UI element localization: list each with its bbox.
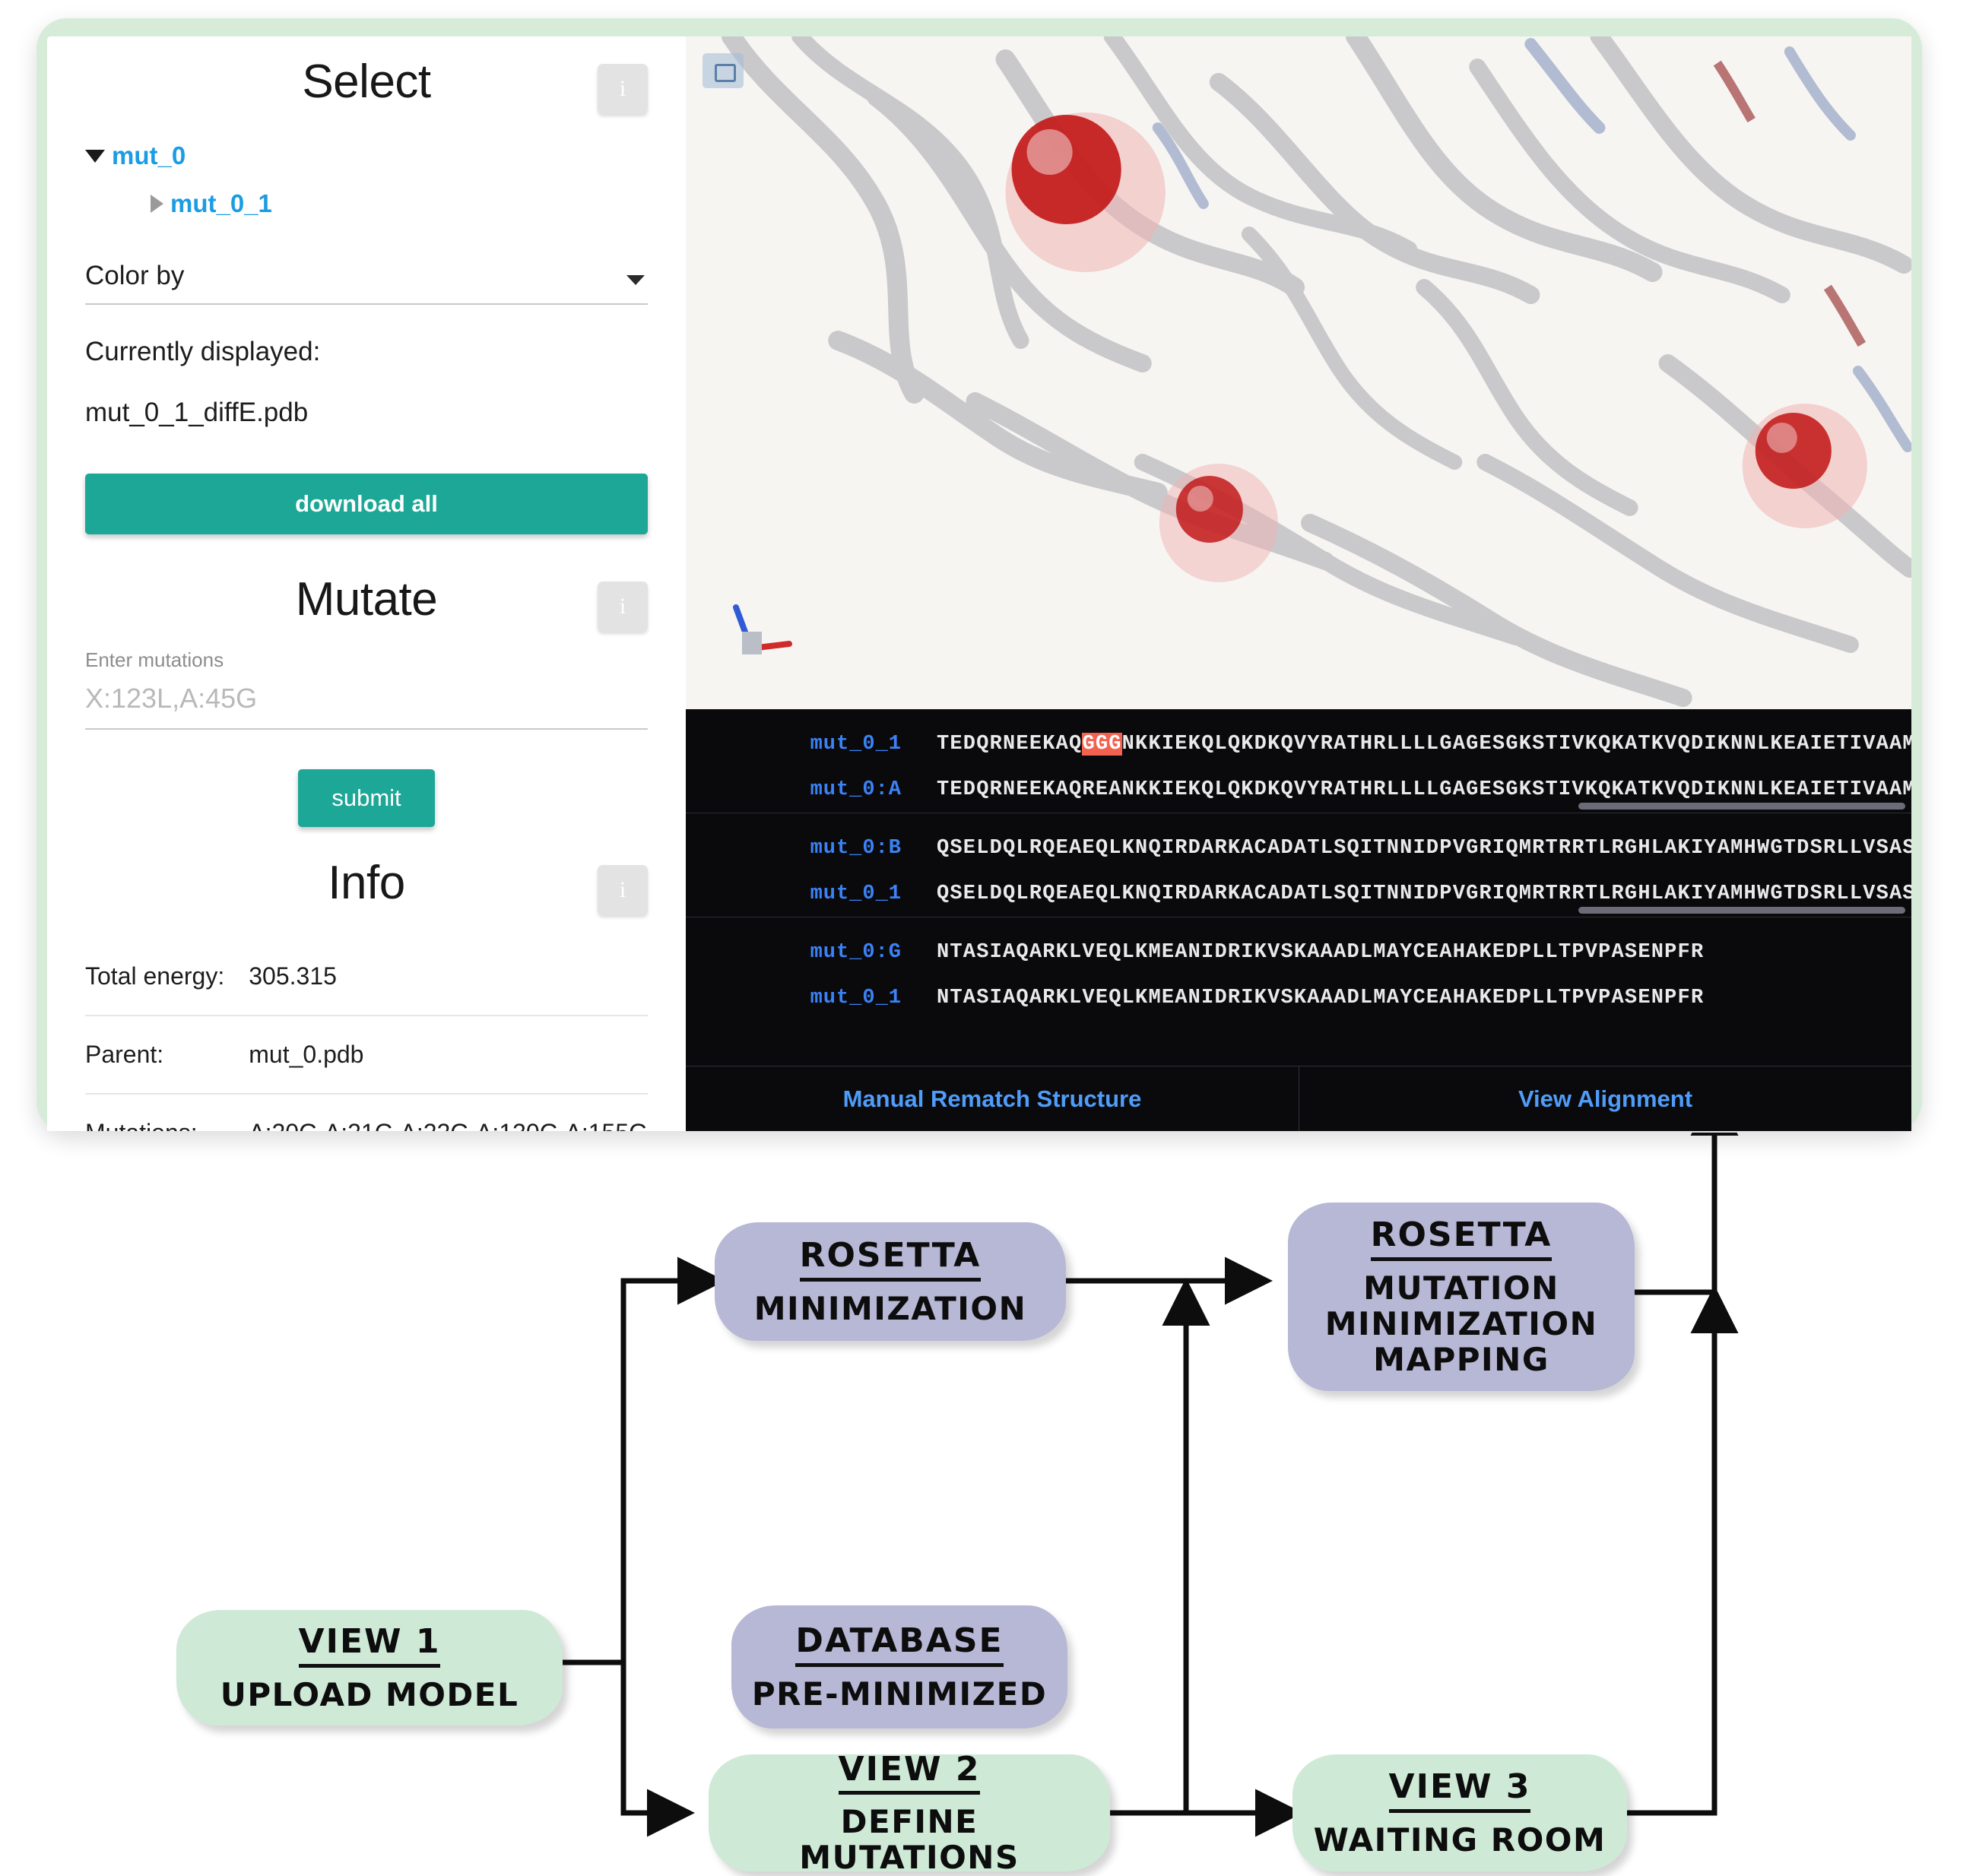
molecular-structure-viewer[interactable] [686, 36, 1911, 709]
model-tree: mut_0 mut_0_1 [85, 132, 648, 227]
submit-row: submit [85, 769, 648, 827]
alignment-row-sequence: NTASIAQARKLVEQLKMEANIDRIKVSKAAADLMAYCEAH… [937, 941, 1704, 964]
workflow-diagram: VIEW 1 UPLOAD MODEL ROSETTA MINIMIZATION… [0, 1133, 1976, 1852]
flow-node-title: DATABASE [795, 1622, 1003, 1666]
alignment-row-name[interactable]: mut_0_1 [686, 733, 937, 756]
info-table: Total energy: 305.315 Parent: mut_0.pdb … [85, 938, 648, 1131]
flow-node-rosetta-mutation-mapping[interactable]: ROSETTA MUTATION MINIMIZATION MAPPING [1288, 1203, 1635, 1391]
select-info-button[interactable]: i [598, 64, 648, 114]
alignment-block: mut_0:G NTASIAQARKLVEQLKMEANIDRIKVSKAAAD… [686, 917, 1911, 1021]
info-section-header: Info i [85, 838, 648, 921]
axis-orientation-widget [719, 589, 810, 673]
mutation-highlight: GGG [1082, 733, 1121, 756]
table-row: Parent: mut_0.pdb [85, 1016, 648, 1094]
select-title: Select [85, 56, 648, 108]
info-key: Mutations: [85, 1094, 249, 1131]
alignment-row-name[interactable]: mut_0:A [686, 778, 937, 801]
alignment-block: mut_0:B QSELDQLRQEAEQLKNQIRDARKACADATLSQ… [686, 813, 1911, 917]
flow-node-view2[interactable]: VIEW 2 DEFINE MUTATIONS [709, 1754, 1110, 1871]
view-alignment-button[interactable]: View Alignment [1299, 1066, 1911, 1131]
color-by-select[interactable]: Color by [85, 261, 648, 305]
info-value: mut_0.pdb [249, 1016, 648, 1094]
alignment-row-name[interactable]: mut_0_1 [686, 883, 937, 905]
alignment-row: mut_0_1 TEDQRNEEKAQGGGNKKIEKQLQKDKQVYRAT… [686, 721, 1911, 767]
horizontal-scrollbar[interactable] [1578, 803, 1905, 810]
enter-mutations-caption: Enter mutations [85, 648, 648, 672]
flow-node-view3[interactable]: VIEW 3 WAITING ROOM [1292, 1754, 1627, 1871]
flow-node-title: VIEW 2 [839, 1751, 981, 1795]
viewer-column: mut_0_1 TEDQRNEEKAQGGGNKKIEKQLQKDKQVYRAT… [686, 36, 1911, 1131]
alignment-row-name[interactable]: mut_0:G [686, 941, 937, 964]
tree-item-label: mut_0_1 [170, 180, 272, 228]
tree-item-label: mut_0 [112, 132, 186, 180]
camera-icon[interactable] [703, 53, 744, 88]
info-key: Parent: [85, 1016, 249, 1094]
flow-node-database[interactable]: DATABASE PRE-MINIMIZED [731, 1605, 1067, 1729]
mutate-info-button[interactable]: i [598, 581, 648, 632]
alignment-row-name[interactable]: mut_0:B [686, 837, 937, 860]
chevron-right-icon[interactable] [151, 195, 163, 213]
alignment-block: mut_0_1 TEDQRNEEKAQGGGNKKIEKQLQKDKQVYRAT… [686, 709, 1911, 813]
sequence-alignment-panel[interactable]: mut_0_1 TEDQRNEEKAQGGGNKKIEKQLQKDKQVYRAT… [686, 709, 1911, 1131]
alignment-row-sequence: QSELDQLRQEAEQLKNQIRDARKACADATLSQITNNIDPV… [937, 883, 1911, 905]
chevron-down-icon [626, 275, 645, 285]
flow-node-subtitle: UPLOAD MODEL [220, 1677, 519, 1713]
tree-item-mut_0[interactable]: mut_0 [85, 132, 648, 180]
table-row: Total energy: 305.315 [85, 938, 648, 1016]
flow-node-title: ROSETTA [1371, 1216, 1553, 1260]
mutate-title: Mutate [85, 574, 648, 626]
alignment-row: mut_0_1 NTASIAQARKLVEQLKMEANIDRIKVSKAAAD… [686, 975, 1911, 1021]
flow-node-title: VIEW 1 [299, 1623, 441, 1667]
flow-node-subtitle: PRE-MINIMIZED [752, 1676, 1047, 1712]
alignment-row-sequence: QSELDQLRQEAEQLKNQIRDARKACADATLSQITNNIDPV… [937, 837, 1911, 860]
flow-node-subtitle: MUTATION MINIMIZATION MAPPING [1325, 1270, 1597, 1377]
protein-ribbon-render [686, 36, 1911, 709]
submit-button[interactable]: submit [298, 769, 434, 827]
alignment-row-sequence: TEDQRNEEKAQGGGNKKIEKQLQKDKQVYRATHRLLLLGA… [937, 733, 1911, 756]
manual-rematch-structure-button[interactable]: Manual Rematch Structure [686, 1066, 1299, 1131]
alignment-row: mut_0:B QSELDQLRQEAEQLKNQIRDARKACADATLSQ… [686, 826, 1911, 871]
currently-displayed-label: Currently displayed: [85, 337, 648, 367]
table-row: Mutations: A:20G,A:21G,A:22G,A:130G,A:15… [85, 1094, 648, 1131]
alignment-row-name[interactable]: mut_0_1 [686, 987, 937, 1009]
chevron-down-icon[interactable] [85, 150, 105, 163]
mutations-input[interactable] [85, 672, 648, 730]
flow-node-subtitle: DEFINE MUTATIONS [728, 1804, 1090, 1875]
info-title: Info [85, 857, 648, 909]
select-section-header: Select i [85, 36, 648, 120]
flow-node-title: VIEW 3 [1389, 1768, 1531, 1812]
sidebar-panel: Select i mut_0 mut_0_1 Color by Currentl… [47, 36, 686, 1131]
flow-node-subtitle: WAITING ROOM [1314, 1822, 1606, 1858]
flow-node-title: ROSETTA [800, 1237, 982, 1281]
alignment-action-bar: Manual Rematch Structure View Alignment [686, 1066, 1911, 1131]
alignment-row-sequence: NTASIAQARKLVEQLKMEANIDRIKVSKAAADLMAYCEAH… [937, 987, 1704, 1009]
color-by-label: Color by [85, 261, 184, 290]
application-content: Select i mut_0 mut_0_1 Color by Currentl… [47, 36, 1911, 1131]
flow-node-view1[interactable]: VIEW 1 UPLOAD MODEL [176, 1610, 563, 1725]
mutate-section-header: Mutate i [85, 554, 648, 638]
info-key: Total energy: [85, 938, 249, 1016]
download-all-button[interactable]: download all [85, 474, 648, 534]
alignment-row-sequence: TEDQRNEEKAQREANKKIEKQLQKDKQVYRATHRLLLLGA… [937, 778, 1911, 801]
info-value: A:20G,A:21G,A:22G,A:130G,A:155G [249, 1094, 648, 1131]
alignment-row: mut_0:G NTASIAQARKLVEQLKMEANIDRIKVSKAAAD… [686, 930, 1911, 975]
currently-displayed-value: mut_0_1_diffE.pdb [85, 398, 648, 428]
horizontal-scrollbar[interactable] [1578, 907, 1905, 914]
application-window: Select i mut_0 mut_0_1 Color by Currentl… [36, 18, 1922, 1132]
flow-node-subtitle: MINIMIZATION [754, 1291, 1026, 1326]
info-info-button[interactable]: i [598, 865, 648, 915]
tree-item-mut_0_1[interactable]: mut_0_1 [151, 180, 648, 228]
flow-node-rosetta-minimization[interactable]: ROSETTA MINIMIZATION [715, 1222, 1066, 1341]
info-value: 305.315 [249, 938, 648, 1016]
